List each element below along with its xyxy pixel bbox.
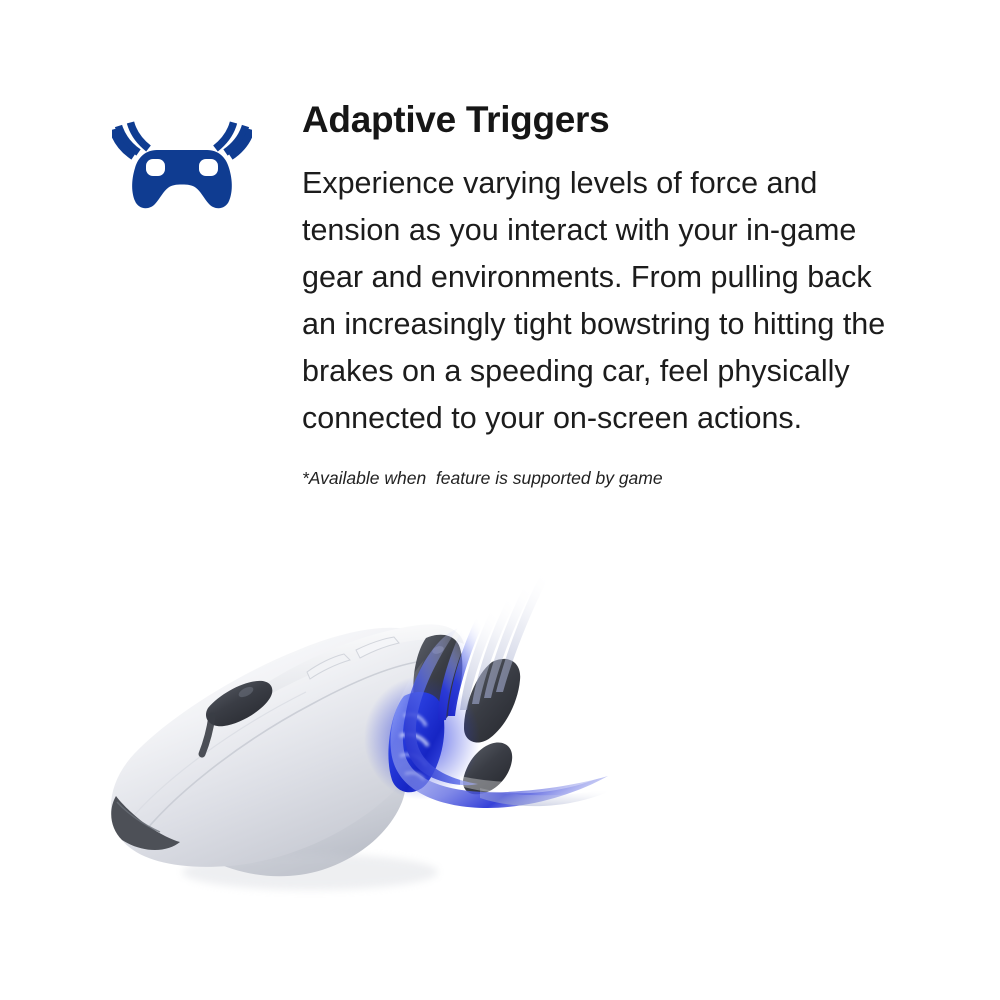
product-feature-card: Adaptive Triggers Experience varying lev… (0, 0, 1000, 1000)
feature-title: Adaptive Triggers (302, 98, 902, 142)
feature-footnote: *Available when feature is supported by … (302, 466, 902, 490)
feature-description: Experience varying levels of force and t… (302, 160, 892, 442)
gamepad-vibration-icon (112, 100, 252, 212)
feature-copy: Adaptive Triggers Experience varying lev… (302, 98, 902, 490)
feature-block: Adaptive Triggers Experience varying lev… (0, 0, 1000, 548)
dualsense-controller-photo (60, 540, 680, 940)
